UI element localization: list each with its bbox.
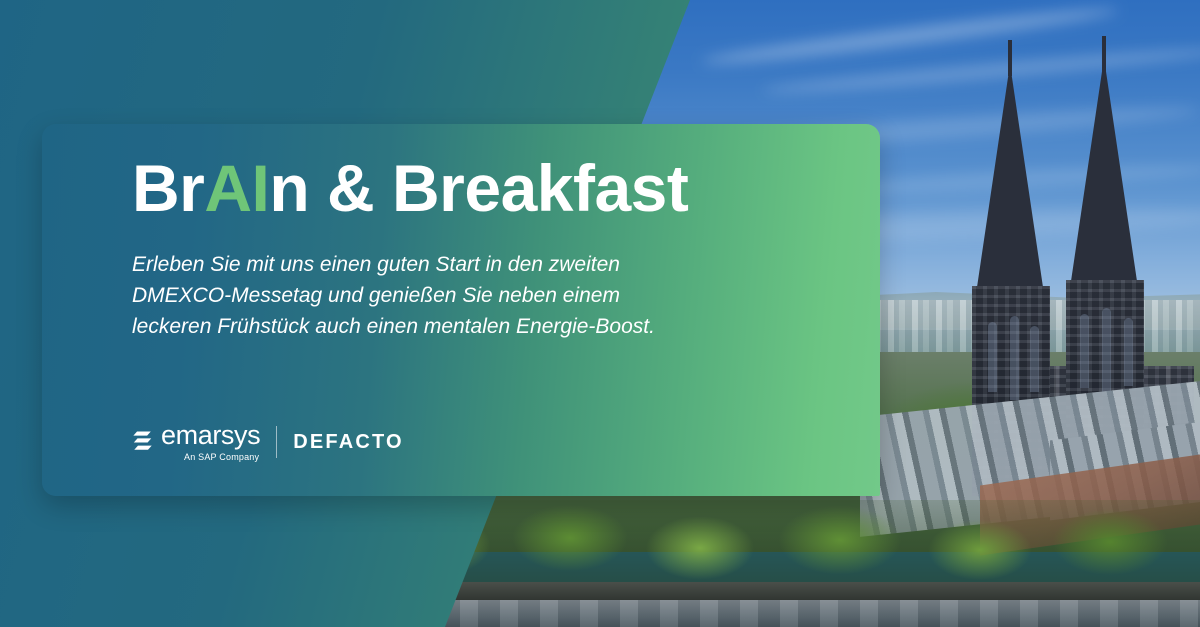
emarsys-logo: emarsys An SAP Company bbox=[132, 422, 260, 462]
headline-suffix: n & Breakfast bbox=[269, 151, 688, 225]
cathedral-window bbox=[1010, 316, 1019, 400]
headline-accent-ai: AI bbox=[204, 151, 269, 225]
emarsys-wordmark-block: emarsys An SAP Company bbox=[161, 422, 260, 462]
cathedral-window bbox=[1124, 318, 1133, 386]
page-title: BrAIn & Breakfast bbox=[132, 154, 840, 223]
cathedral-spire-right bbox=[1070, 58, 1138, 288]
logo-divider bbox=[276, 426, 277, 458]
content-card: BrAIn & Breakfast Erleben Sie mit uns ei… bbox=[42, 124, 880, 496]
logo-lockup: emarsys An SAP Company DEFACTO bbox=[132, 422, 404, 462]
event-description: Erleben Sie mit uns einen guten Start in… bbox=[132, 249, 692, 342]
emarsys-wordmark: emarsys bbox=[161, 422, 260, 449]
cathedral-window bbox=[988, 322, 997, 392]
headline-prefix: Br bbox=[132, 151, 204, 225]
defacto-wordmark: DEFACTO bbox=[293, 431, 404, 454]
cathedral-window bbox=[1030, 326, 1039, 392]
cathedral-window bbox=[1080, 314, 1089, 388]
cathedral-window bbox=[1102, 308, 1111, 396]
emarsys-tagline: An SAP Company bbox=[184, 453, 259, 462]
banner-canvas: BrAIn & Breakfast Erleben Sie mit uns ei… bbox=[0, 0, 1200, 627]
cathedral-spire-left bbox=[976, 64, 1044, 294]
emarsys-e-mark-icon bbox=[132, 430, 154, 454]
